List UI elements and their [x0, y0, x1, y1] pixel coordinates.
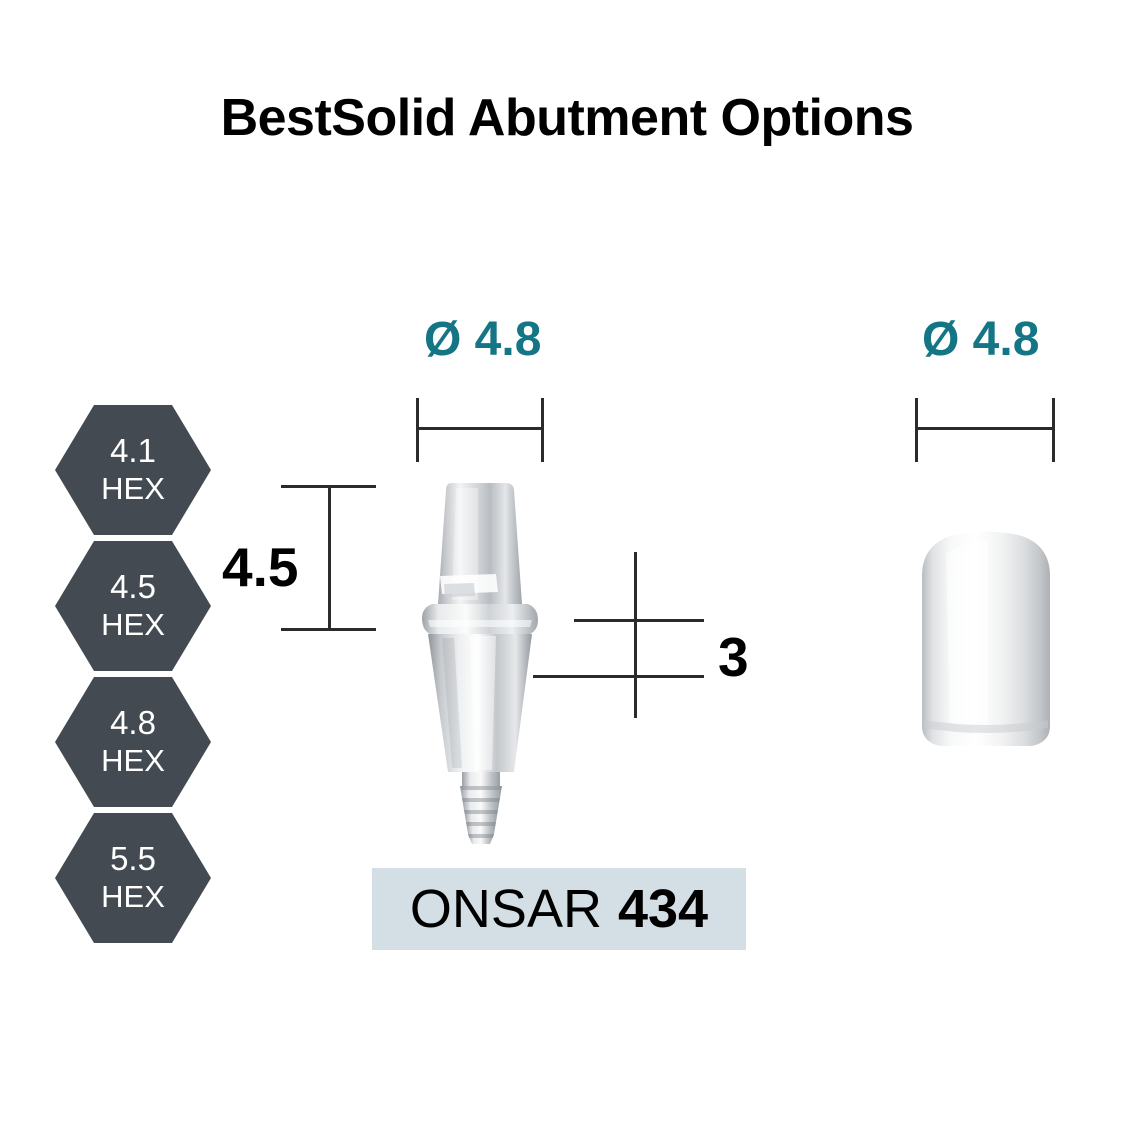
- product-label-box: ONSAR 434: [372, 868, 746, 950]
- abutment-diameter-tick-left: [416, 398, 419, 462]
- abutment-height-tick-top: [281, 485, 376, 488]
- abutment-notch-shadow: [444, 583, 475, 597]
- abutment-height-tick-bottom: [281, 628, 376, 631]
- product-code: 434: [618, 878, 708, 940]
- cap-illustration: [916, 530, 1056, 752]
- abutment-skirt-highlight: [470, 636, 496, 770]
- abutment-collar-dimension-line: [634, 552, 637, 718]
- abutment-options-diagram: BestSolid Abutment Options 4.1 HEX 4.5 H…: [0, 0, 1134, 1134]
- cap-diameter-dimension-line: [915, 427, 1055, 430]
- abutment-collar: [422, 604, 538, 634]
- cap-diameter-tick-left: [915, 398, 918, 462]
- hex-option-size: 5.5: [110, 840, 156, 879]
- hex-option-badge[interactable]: 4.1 HEX: [55, 405, 211, 535]
- hex-option-kind: HEX: [101, 879, 165, 916]
- abutment-height-label: 4.5: [222, 535, 298, 599]
- hex-option-badge[interactable]: 5.5 HEX: [55, 813, 211, 943]
- hex-options-list: 4.1 HEX 4.5 HEX 4.8 HEX 5.5 HEX: [55, 405, 215, 949]
- page-title: BestSolid Abutment Options: [0, 88, 1134, 148]
- hex-option-kind: HEX: [101, 743, 165, 780]
- abutment-screw-threads: [460, 786, 502, 844]
- abutment-diameter-tick-right: [541, 398, 544, 462]
- cap-diameter-tick-right: [1052, 398, 1055, 462]
- hex-option-badge[interactable]: 4.8 HEX: [55, 677, 211, 807]
- hex-option-kind: HEX: [101, 607, 165, 644]
- abutment-illustration: [418, 480, 568, 850]
- abutment-height-dimension-line: [328, 485, 331, 631]
- abutment-diameter-label: Ø 4.8: [424, 312, 541, 367]
- hex-option-size: 4.5: [110, 568, 156, 607]
- abutment-collar-label: 3: [718, 625, 749, 689]
- hex-option-size: 4.8: [110, 704, 156, 743]
- abutment-collar-tick-top: [574, 619, 704, 622]
- hex-option-size: 4.1: [110, 432, 156, 471]
- product-brand: ONSAR: [410, 878, 602, 940]
- abutment-screw-shank: [462, 772, 500, 786]
- cap-diameter-label: Ø 4.8: [922, 312, 1039, 367]
- abutment-diameter-dimension-line: [416, 427, 544, 430]
- hex-option-kind: HEX: [101, 471, 165, 508]
- abutment-collar-highlight: [428, 620, 532, 627]
- cap-highlight: [946, 542, 988, 730]
- hex-option-badge[interactable]: 4.5 HEX: [55, 541, 211, 671]
